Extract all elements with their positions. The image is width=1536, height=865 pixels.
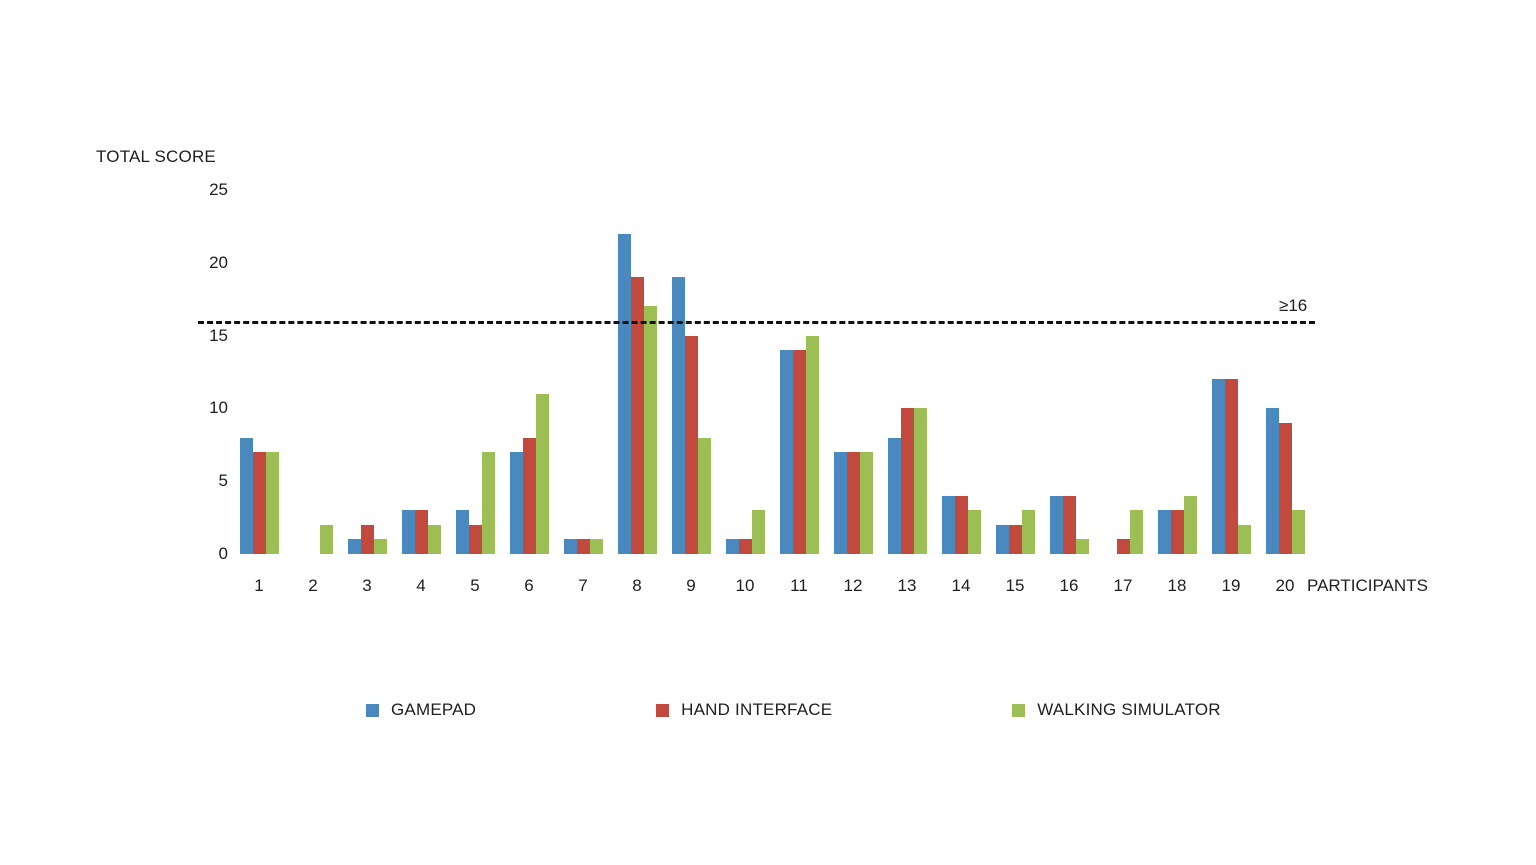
bar-hand-p17 [1117, 539, 1130, 554]
bar-walking-p10 [752, 510, 765, 554]
bar-hand-p7 [577, 539, 590, 554]
bar-group-participant-5 [456, 190, 495, 554]
bar-walking-p7 [590, 539, 603, 554]
legend-swatch-gamepad [366, 704, 379, 717]
bar-walking-p19 [1238, 525, 1251, 554]
bar-gamepad-p10 [726, 539, 739, 554]
bar-walking-p17 [1130, 510, 1143, 554]
bar-hand-p4 [415, 510, 428, 554]
chart-container: TOTAL SCORE 0510152025 ≥16 1234567891011… [0, 0, 1536, 865]
bar-walking-p2 [320, 525, 333, 554]
bar-walking-p1 [266, 452, 279, 554]
bar-group-participant-10 [726, 190, 765, 554]
bar-group-participant-8 [618, 190, 657, 554]
x-axis-tick-3: 3 [362, 576, 371, 596]
bar-walking-p9 [698, 438, 711, 554]
threshold-label: ≥16 [1279, 296, 1307, 316]
bar-group-participant-2 [294, 190, 333, 554]
y-axis-tick-10: 10 [209, 398, 228, 418]
legend-item-hand-interface[interactable]: HAND INTERFACE [656, 700, 832, 720]
bar-gamepad-p16 [1050, 496, 1063, 554]
x-axis-tick-20: 20 [1276, 576, 1295, 596]
bar-hand-p9 [685, 336, 698, 554]
bar-gamepad-p7 [564, 539, 577, 554]
legend-label-walking-simulator: WALKING SIMULATOR [1037, 700, 1221, 720]
bar-gamepad-p8 [618, 234, 631, 554]
x-axis-tick-6: 6 [524, 576, 533, 596]
bar-hand-p18 [1171, 510, 1184, 554]
bar-group-participant-16 [1050, 190, 1089, 554]
x-axis-tick-15: 15 [1006, 576, 1025, 596]
chart-legend: GAMEPADHAND INTERFACEWALKING SIMULATOR [366, 700, 1221, 720]
x-axis-tick-14: 14 [952, 576, 971, 596]
bar-hand-p13 [901, 408, 914, 554]
bar-hand-p20 [1279, 423, 1292, 554]
bar-walking-p16 [1076, 539, 1089, 554]
bar-group-participant-4 [402, 190, 441, 554]
legend-swatch-walking-simulator [1012, 704, 1025, 717]
x-axis-tick-4: 4 [416, 576, 425, 596]
bar-walking-p5 [482, 452, 495, 554]
bar-gamepad-p14 [942, 496, 955, 554]
bar-group-participant-19 [1212, 190, 1251, 554]
bar-hand-p10 [739, 539, 752, 554]
bar-gamepad-p13 [888, 438, 901, 554]
bar-gamepad-p5 [456, 510, 469, 554]
x-axis-tick-18: 18 [1168, 576, 1187, 596]
x-axis-tick-9: 9 [686, 576, 695, 596]
x-axis-tick-labels: 1234567891011121314151617181920 [232, 576, 1312, 602]
x-axis-tick-10: 10 [736, 576, 755, 596]
threshold-dashed-line [198, 321, 1315, 324]
bar-group-participant-13 [888, 190, 927, 554]
bar-hand-p1 [253, 452, 266, 554]
legend-swatch-hand-interface [656, 704, 669, 717]
x-axis-tick-1: 1 [254, 576, 263, 596]
x-axis-tick-2: 2 [308, 576, 317, 596]
x-axis-title: PARTICIPANTS [1307, 576, 1428, 596]
y-axis-tick-labels: 0510152025 [150, 190, 228, 554]
bar-gamepad-p4 [402, 510, 415, 554]
bar-group-participant-17 [1104, 190, 1143, 554]
bar-hand-p16 [1063, 496, 1076, 554]
bar-group-participant-3 [348, 190, 387, 554]
bar-gamepad-p3 [348, 539, 361, 554]
bar-group-participant-9 [672, 190, 711, 554]
bar-gamepad-p11 [780, 350, 793, 554]
x-axis-tick-13: 13 [898, 576, 917, 596]
bar-hand-p19 [1225, 379, 1238, 554]
bar-hand-p11 [793, 350, 806, 554]
legend-label-hand-interface: HAND INTERFACE [681, 700, 832, 720]
bar-walking-p12 [860, 452, 873, 554]
bar-walking-p18 [1184, 496, 1197, 554]
bar-gamepad-p6 [510, 452, 523, 554]
bar-hand-p8 [631, 277, 644, 554]
x-axis-tick-8: 8 [632, 576, 641, 596]
y-axis-tick-25: 25 [209, 180, 228, 200]
bar-gamepad-p20 [1266, 408, 1279, 554]
legend-item-walking-simulator[interactable]: WALKING SIMULATOR [1012, 700, 1221, 720]
bar-walking-p14 [968, 510, 981, 554]
bar-gamepad-p18 [1158, 510, 1171, 554]
bar-gamepad-p19 [1212, 379, 1225, 554]
bar-group-participant-11 [780, 190, 819, 554]
bar-walking-p4 [428, 525, 441, 554]
legend-label-gamepad: GAMEPAD [391, 700, 476, 720]
bar-group-participant-15 [996, 190, 1035, 554]
bar-group-participant-12 [834, 190, 873, 554]
y-axis-title: TOTAL SCORE [96, 147, 216, 167]
bar-hand-p3 [361, 525, 374, 554]
bar-group-participant-7 [564, 190, 603, 554]
bar-walking-p20 [1292, 510, 1305, 554]
x-axis-tick-16: 16 [1060, 576, 1079, 596]
bar-walking-p8 [644, 306, 657, 554]
bar-hand-p14 [955, 496, 968, 554]
bar-group-participant-6 [510, 190, 549, 554]
bar-walking-p3 [374, 539, 387, 554]
x-axis-tick-12: 12 [844, 576, 863, 596]
bar-walking-p13 [914, 408, 927, 554]
bar-hand-p15 [1009, 525, 1022, 554]
y-axis-tick-5: 5 [219, 471, 228, 491]
x-axis-tick-7: 7 [578, 576, 587, 596]
bar-gamepad-p12 [834, 452, 847, 554]
legend-item-gamepad[interactable]: GAMEPAD [366, 700, 476, 720]
bar-gamepad-p15 [996, 525, 1009, 554]
bar-gamepad-p1 [240, 438, 253, 554]
bar-gamepad-p9 [672, 277, 685, 554]
bar-group-participant-18 [1158, 190, 1197, 554]
bar-group-participant-1 [240, 190, 279, 554]
y-axis-tick-0: 0 [219, 544, 228, 564]
y-axis-tick-20: 20 [209, 253, 228, 273]
bar-hand-p5 [469, 525, 482, 554]
x-axis-tick-11: 11 [790, 576, 808, 596]
x-axis-tick-19: 19 [1222, 576, 1241, 596]
plot-area [232, 190, 1312, 554]
bar-group-participant-20 [1266, 190, 1305, 554]
bar-walking-p15 [1022, 510, 1035, 554]
bar-walking-p6 [536, 394, 549, 554]
x-axis-tick-5: 5 [470, 576, 479, 596]
bar-walking-p11 [806, 336, 819, 554]
bar-hand-p12 [847, 452, 860, 554]
bar-hand-p6 [523, 438, 536, 554]
bars-layer [232, 190, 1312, 554]
bar-group-participant-14 [942, 190, 981, 554]
y-axis-tick-15: 15 [209, 326, 228, 346]
x-axis-tick-17: 17 [1114, 576, 1133, 596]
